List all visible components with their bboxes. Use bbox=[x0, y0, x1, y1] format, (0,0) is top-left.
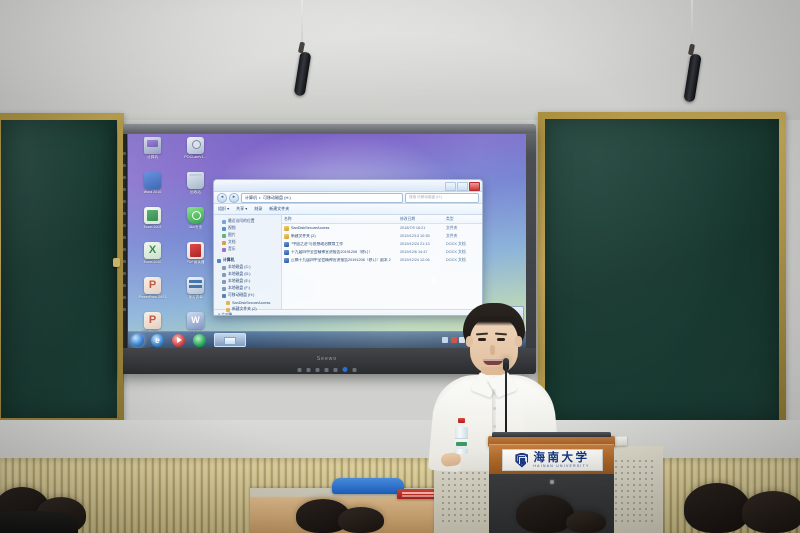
table-row[interactable]: 十九届四中全会精神宣讲报告20191206（修订）2019/12/6 14:47… bbox=[282, 248, 482, 256]
desktop-icon-label: Word 2010 bbox=[144, 190, 162, 194]
pdf-icon[interactable] bbox=[187, 242, 204, 259]
desktop-icon[interactable]: POCLamV1... bbox=[175, 137, 216, 170]
toolbar-item[interactable]: 刻录 bbox=[254, 206, 262, 212]
excel-icon[interactable] bbox=[144, 242, 161, 259]
file-type: 文件夹 bbox=[446, 226, 480, 231]
column-type[interactable]: 类型 bbox=[446, 217, 480, 222]
speaker-grille bbox=[607, 458, 657, 523]
file-explorer-window[interactable]: ◂ ▸ 计算机▸可移动磁盘 (H:) 搜索 可移动磁盘 (H:) 组织 ▾共享 … bbox=[213, 179, 483, 316]
audience-head bbox=[566, 511, 606, 533]
breadcrumb-separator: ▸ bbox=[259, 195, 261, 200]
audience-head bbox=[742, 491, 800, 533]
nav-item[interactable]: 本地磁盘 (D:) bbox=[217, 271, 279, 278]
explorer-task-button[interactable] bbox=[214, 333, 246, 347]
desktop-icon-label: PowerPoint 2003 bbox=[139, 295, 166, 299]
nav-item-label: 视频 bbox=[228, 226, 236, 231]
board-brand-label: Seewo bbox=[317, 356, 337, 362]
nav-item-icon bbox=[222, 241, 226, 245]
nav-item-label: 本地磁盘 (D:) bbox=[228, 272, 251, 277]
column-date[interactable]: 修改日期 bbox=[400, 217, 446, 222]
desktop-icon[interactable]: 回收站 bbox=[175, 172, 216, 205]
file-name: 十九届四中全会精神宣讲报告20191206（修订） bbox=[291, 250, 372, 255]
forward-button[interactable]: ▸ bbox=[229, 193, 239, 203]
toolbar-item[interactable]: 组织 ▾ bbox=[218, 206, 229, 212]
desktop-icon[interactable]: PDF阅读器 bbox=[175, 242, 216, 275]
chalkboard-surface bbox=[1, 120, 117, 418]
ear-right bbox=[515, 336, 522, 347]
nav-item-icon bbox=[222, 220, 226, 224]
file-type-icon bbox=[284, 226, 289, 231]
nav-item[interactable]: SanDiskSecureAccess bbox=[217, 299, 279, 306]
lecture-hall-photo: 计算机POCLamV1...Word 2010回收站Excel 2003360安… bbox=[0, 0, 800, 533]
nav-item-label: 本地磁盘 (E:) bbox=[228, 279, 250, 284]
nav-item-label: 音乐 bbox=[228, 247, 236, 252]
board-lock-knob[interactable] bbox=[113, 258, 120, 267]
board-divider bbox=[118, 120, 123, 420]
nav-item-label: 本地磁盘 (F:) bbox=[228, 286, 250, 291]
desktop-icon-label: 360安全 bbox=[189, 225, 202, 229]
nav-item-icon bbox=[222, 227, 226, 231]
file-date: 2019/12/6 14:47 bbox=[400, 250, 446, 254]
audience-shoulder bbox=[0, 511, 78, 533]
file-name: 正稿十九届四中全会精神宣讲报告20191206（修订）副本 2 bbox=[291, 258, 391, 263]
ear-left bbox=[466, 336, 473, 347]
podium-screw bbox=[550, 480, 554, 484]
powerpoint-icon[interactable] bbox=[144, 277, 161, 294]
nav-item[interactable]: 本地磁盘 (F:) bbox=[217, 285, 279, 292]
desktop-icon-label: 报名表单 bbox=[188, 295, 202, 299]
breadcrumb[interactable]: 计算机▸可移动磁盘 (H:) bbox=[241, 193, 403, 203]
file-date: 2019/12/24 21:13 bbox=[400, 242, 446, 246]
blackboard-left bbox=[0, 113, 124, 425]
nav-item[interactable]: 视频 bbox=[217, 225, 279, 232]
nav-item[interactable]: 本地磁盘 (E:) bbox=[217, 278, 279, 285]
minimize-button[interactable] bbox=[445, 182, 456, 191]
eye-left bbox=[478, 338, 486, 341]
toolbar-item[interactable]: 共享 ▾ bbox=[236, 206, 247, 212]
file-name: SanDiskSecureAccess bbox=[291, 226, 329, 230]
file-date: 2019/12/13 10:35 bbox=[400, 234, 446, 238]
desktop-icon-label: 回收站 bbox=[190, 190, 201, 194]
upper-wall bbox=[0, 0, 800, 120]
nav-item-label: 新建文件夹 (2) bbox=[232, 307, 257, 312]
desktop-icon-label: POCLamV1... bbox=[184, 155, 206, 159]
column-headers[interactable]: 名称 修改日期 类型 bbox=[282, 215, 482, 224]
audience-head bbox=[516, 495, 574, 533]
shield-icon[interactable] bbox=[187, 207, 204, 224]
column-name[interactable]: 名称 bbox=[284, 217, 400, 222]
toolbar-item[interactable]: 新建文件夹 bbox=[269, 206, 289, 212]
nav-item-icon bbox=[222, 287, 226, 291]
computer-icon[interactable] bbox=[144, 137, 161, 154]
nav-item-label: 文档 bbox=[228, 240, 236, 245]
university-nameplate: 海南大学 HAINAN UNIVERSITY bbox=[502, 449, 603, 471]
nav-item[interactable]: 本地磁盘 (C:) bbox=[217, 264, 279, 271]
start-orb-icon[interactable] bbox=[131, 334, 144, 347]
back-button[interactable]: ◂ bbox=[217, 193, 227, 203]
status-text: 5 个对象 bbox=[218, 313, 233, 316]
eye-right bbox=[497, 338, 505, 341]
word-icon[interactable] bbox=[144, 172, 161, 189]
shirt-button bbox=[493, 407, 496, 410]
nav-item[interactable]: 图片 bbox=[217, 232, 279, 239]
nose bbox=[490, 345, 495, 355]
browser-icon[interactable] bbox=[193, 334, 206, 347]
webcam-icon[interactable] bbox=[187, 137, 204, 154]
form-icon[interactable] bbox=[187, 277, 204, 294]
nav-item-label: 图片 bbox=[228, 233, 236, 238]
ie-icon[interactable] bbox=[151, 334, 164, 347]
mouth bbox=[483, 359, 503, 365]
desktop-icon[interactable]: 360安全 bbox=[175, 207, 216, 240]
breadcrumb-item[interactable]: 可移动磁盘 (H:) bbox=[263, 195, 291, 201]
excel-icon[interactable] bbox=[144, 207, 161, 224]
desktop-icon-label: Excel 2010 bbox=[144, 260, 162, 264]
window-controls[interactable] bbox=[445, 182, 480, 191]
file-date: 2019/12/24 12:06 bbox=[400, 258, 446, 262]
nav-item[interactable]: 文档 bbox=[217, 239, 279, 246]
desktop-icon-label: 计算机 bbox=[147, 155, 158, 159]
podium-front-panel: 海南大学 HAINAN UNIVERSITY bbox=[489, 444, 614, 474]
mic-cable bbox=[691, 0, 693, 48]
university-shield-logo bbox=[515, 453, 528, 468]
desktop-icon[interactable]: Excel 2003 bbox=[132, 207, 173, 240]
chalkboard-surface bbox=[545, 119, 779, 420]
university-name-en: HAINAN UNIVERSITY bbox=[533, 465, 589, 468]
bottle-label bbox=[455, 438, 468, 449]
audience-head bbox=[338, 507, 384, 533]
audience-head bbox=[684, 483, 750, 533]
file-type-icon bbox=[284, 242, 289, 247]
nav-item-icon bbox=[222, 234, 226, 238]
navigation-pane[interactable]: 最近访问的位置视频图片文档音乐计算机本地磁盘 (C:)本地磁盘 (D:)本地磁盘… bbox=[214, 215, 282, 309]
file-list[interactable]: 名称 修改日期 类型 SanDiskSecureAccess2018/7/9 1… bbox=[282, 215, 482, 309]
file-date: 2018/7/9 16:21 bbox=[400, 226, 446, 230]
nav-item[interactable]: 计算机 bbox=[217, 257, 279, 264]
desktop-icon-label: Excel 2003 bbox=[144, 225, 162, 229]
file-type-icon bbox=[284, 234, 289, 239]
nav-item-icon bbox=[226, 308, 230, 312]
blue-chair bbox=[332, 478, 404, 494]
file-name: "中国之治"与思想政治教育工作 bbox=[291, 242, 343, 247]
nav-item-icon bbox=[217, 259, 221, 263]
table-row[interactable]: 新建文件夹 (2)2019/12/13 10:35文件夹 bbox=[282, 232, 482, 240]
powerpoint-icon[interactable] bbox=[144, 312, 161, 329]
desktop-icon-label: PDF阅读器 bbox=[187, 260, 205, 264]
blackboard-right bbox=[538, 112, 786, 427]
file-name: 新建文件夹 (2) bbox=[291, 234, 316, 239]
board-control-buttons[interactable] bbox=[298, 367, 357, 372]
nav-item-icon bbox=[222, 273, 226, 277]
university-name-cn: 海南大学 bbox=[533, 452, 589, 464]
nav-item-label: 本地磁盘 (C:) bbox=[228, 265, 251, 270]
nav-item-icon bbox=[222, 294, 226, 298]
nav-item-icon bbox=[222, 248, 226, 252]
file-type: 文件夹 bbox=[446, 234, 480, 239]
maximize-button[interactable] bbox=[457, 182, 468, 191]
desktop-icon[interactable]: Excel 2010 bbox=[132, 242, 173, 275]
breadcrumb-item[interactable]: 计算机 bbox=[245, 195, 257, 201]
close-button[interactable] bbox=[469, 182, 480, 191]
table-row[interactable]: 正稿十九届四中全会精神宣讲报告20191206（修订）副本 22019/12/2… bbox=[282, 256, 482, 264]
table-row[interactable]: SanDiskSecureAccess2018/7/9 16:21文件夹 bbox=[282, 224, 482, 232]
lower-wall bbox=[0, 420, 800, 460]
nav-item[interactable]: 新建文件夹 (2) bbox=[217, 306, 279, 313]
wps-icon[interactable] bbox=[187, 312, 204, 329]
mic-cable bbox=[301, 0, 303, 46]
file-type: DOCX 文档 bbox=[446, 258, 480, 263]
nav-item-label: SanDiskSecureAccess bbox=[232, 301, 270, 305]
nav-item[interactable]: 音乐 bbox=[217, 246, 279, 253]
desktop-icon[interactable]: 计算机 bbox=[132, 137, 173, 170]
explorer-toolbar[interactable]: 组织 ▾共享 ▾刻录新建文件夹 bbox=[214, 204, 482, 215]
explorer-titlebar[interactable] bbox=[214, 180, 482, 192]
file-type-icon bbox=[284, 258, 289, 263]
nav-item-icon bbox=[222, 280, 226, 284]
desktop-icon[interactable]: 报名表单 bbox=[175, 277, 216, 310]
board-bezel bbox=[118, 124, 536, 133]
nav-item-label: 计算机 bbox=[223, 258, 234, 263]
file-type-icon bbox=[284, 250, 289, 255]
nav-item-icon bbox=[226, 301, 230, 305]
nav-item-icon bbox=[222, 266, 226, 270]
file-type: DOCX 文档 bbox=[446, 242, 480, 247]
desktop-icon[interactable]: Word 2010 bbox=[132, 172, 173, 205]
search-input[interactable]: 搜索 可移动磁盘 (H:) bbox=[405, 193, 479, 203]
nav-item-label: 最近访问的位置 bbox=[228, 219, 255, 224]
water-bottle bbox=[455, 418, 468, 454]
mouse-cursor bbox=[432, 277, 437, 284]
nav-item-label: 可移动磁盘 (H:) bbox=[228, 293, 254, 298]
table-row[interactable]: "中国之治"与思想政治教育工作2019/12/24 21:13DOCX 文档 bbox=[282, 240, 482, 248]
nav-item[interactable]: 最近访问的位置 bbox=[217, 218, 279, 225]
shirt-button bbox=[493, 425, 496, 428]
red-nameplate bbox=[397, 489, 439, 499]
desktop-icon-grid[interactable]: 计算机POCLamV1...Word 2010回收站Excel 2003360安… bbox=[132, 137, 218, 348]
file-type: DOCX 文档 bbox=[446, 250, 480, 255]
nav-item[interactable]: 可移动磁盘 (H:) bbox=[217, 292, 279, 299]
desktop-icon[interactable]: PowerPoint 2003 bbox=[132, 277, 173, 310]
recycle-bin-icon[interactable] bbox=[187, 172, 204, 189]
explorer-address-row[interactable]: ◂ ▸ 计算机▸可移动磁盘 (H:) 搜索 可移动磁盘 (H:) bbox=[214, 192, 482, 204]
media-player-icon[interactable] bbox=[172, 334, 185, 347]
